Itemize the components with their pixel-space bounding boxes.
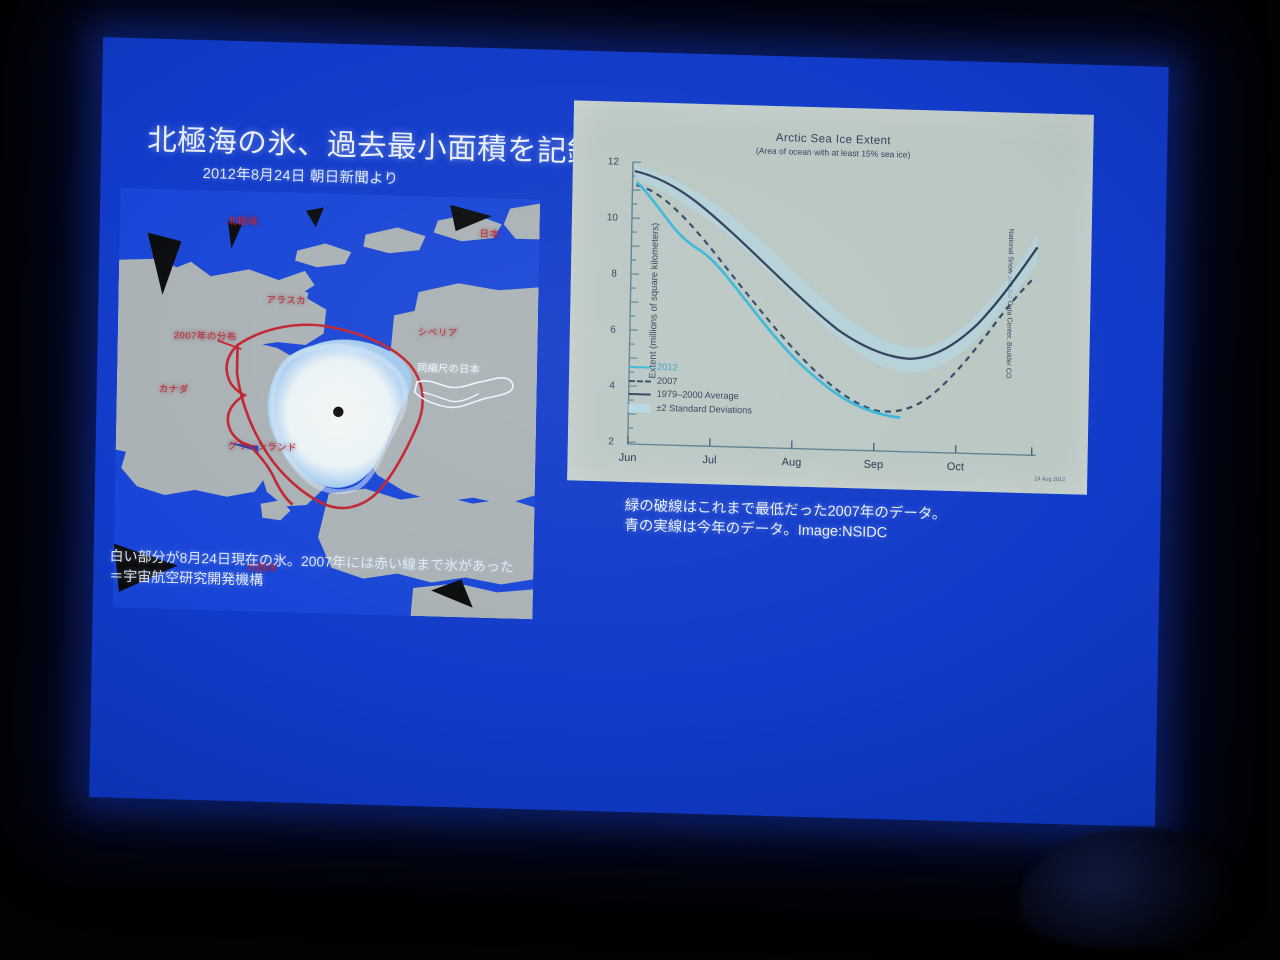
y-tick-label: 8 (601, 268, 617, 279)
map-label: カナダ (159, 381, 189, 396)
map-label-2007-contour: 2007年の分布 (174, 327, 237, 343)
legend-swatch-average-icon (629, 389, 651, 399)
chart-legend: 2012 2007 1979–2000 Average ±2 Stan (628, 360, 752, 417)
presentation-slide: 北極海の氷、過去最小面積を記録 421万平方キロに 2012年8月24日 朝日新… (89, 37, 1169, 827)
y-tick-label: 10 (602, 212, 618, 223)
x-tick-label: Jun (607, 451, 647, 464)
legend-swatch-2012-icon (629, 362, 651, 372)
map-label: 北極海 (228, 213, 258, 228)
legend-swatch-stddev-icon (628, 403, 650, 413)
chart-inner: Arctic Sea Ice Extent (Area of ocean wit… (575, 113, 1085, 485)
map-label: シベリア (418, 324, 458, 339)
legend-swatch-2007-icon (629, 376, 651, 386)
map-label: 日本 (479, 226, 499, 241)
chart-date-stamp: 24 Aug 2012 (1034, 476, 1065, 483)
x-tick-label: Sep (853, 458, 893, 471)
map-label: アラスカ (266, 292, 306, 307)
x-tick-label: Jul (689, 454, 729, 467)
map-label: グリーンランド (228, 438, 298, 454)
x-tick-label: Oct (935, 461, 975, 474)
y-tick-label: 2 (598, 436, 614, 447)
y-tick-label: 12 (603, 156, 619, 167)
x-tick-label: Aug (771, 456, 811, 469)
y-tick-label: 6 (600, 324, 616, 335)
y-tick-label: 4 (599, 380, 615, 391)
map-label-japan-scale: 同縮尺の日本 (417, 359, 480, 376)
legend-label: 2007 (657, 374, 678, 388)
legend-label: ±2 Standard Deviations (656, 401, 752, 417)
page-subtitle: 2012年8月24日 朝日新聞より (202, 162, 398, 188)
arctic-sea-ice-chart-panel: Arctic Sea Ice Extent (Area of ocean wit… (567, 100, 1094, 494)
projected-slide-photo: 北極海の氷、過去最小面積を記録 421万平方キロに 2012年8月24日 朝日新… (0, 0, 1280, 960)
projection-keystone-wrapper: 北極海の氷、過去最小面積を記録 421万平方キロに 2012年8月24日 朝日新… (89, 37, 1169, 827)
chart-caption: 緑の破線はこれまで最低だった2007年のデータ。 青の実線は今年のデータ。Ima… (624, 496, 946, 545)
foreground-silhouette (1020, 828, 1250, 948)
chart-plot-area (621, 160, 1046, 472)
legend-label: 2012 (657, 361, 678, 375)
